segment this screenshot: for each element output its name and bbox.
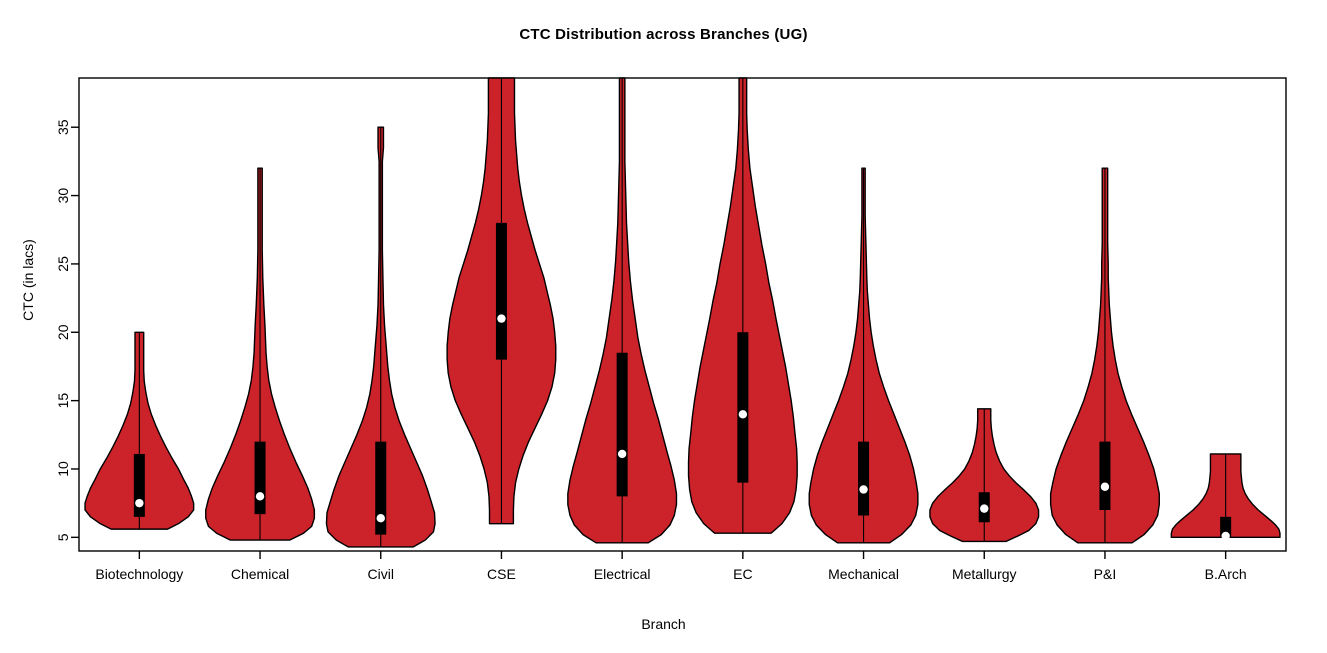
violin-electrical bbox=[568, 78, 677, 543]
violin-biotechnology bbox=[85, 332, 194, 529]
median-marker bbox=[1221, 532, 1229, 540]
x-tick-label: B.Arch bbox=[1205, 566, 1247, 582]
y-tick-label: 10 bbox=[55, 461, 71, 477]
y-axis: 5101520253035 bbox=[55, 119, 79, 541]
x-tick-label: Electrical bbox=[594, 566, 651, 582]
x-tick-label: Civil bbox=[368, 566, 394, 582]
y-tick-label: 25 bbox=[55, 256, 71, 272]
median-marker bbox=[377, 514, 385, 522]
violin-chemical bbox=[206, 168, 315, 540]
median-marker bbox=[497, 314, 505, 322]
y-tick-label: 5 bbox=[55, 533, 71, 541]
violin-b-arch bbox=[1171, 454, 1280, 540]
violin-plot-figure: CTC Distribution across Branches (UG) CT… bbox=[0, 0, 1327, 653]
median-marker bbox=[1101, 483, 1109, 491]
x-tick-label: EC bbox=[733, 566, 752, 582]
x-tick-label: Metallurgy bbox=[952, 566, 1017, 582]
median-marker bbox=[256, 492, 264, 500]
y-tick-label: 20 bbox=[55, 324, 71, 340]
median-marker bbox=[859, 485, 867, 493]
median-marker bbox=[618, 450, 626, 458]
violin-p-i bbox=[1051, 168, 1160, 543]
violin-metallurgy bbox=[930, 409, 1039, 542]
x-tick-label: P&I bbox=[1094, 566, 1117, 582]
violin-ec bbox=[689, 78, 798, 533]
y-tick-label: 15 bbox=[55, 393, 71, 409]
violin-civil bbox=[326, 127, 435, 547]
x-tick-label: Mechanical bbox=[828, 566, 899, 582]
violin-cse bbox=[447, 78, 556, 524]
median-marker bbox=[739, 410, 747, 418]
x-axis: BiotechnologyChemicalCivilCSEElectricalE… bbox=[95, 551, 1246, 582]
x-tick-label: Biotechnology bbox=[95, 566, 183, 582]
plot-area: 5101520253035BiotechnologyChemicalCivilC… bbox=[0, 0, 1327, 653]
median-marker bbox=[135, 499, 143, 507]
median-marker bbox=[980, 504, 988, 512]
y-tick-label: 35 bbox=[55, 119, 71, 135]
y-tick-label: 30 bbox=[55, 188, 71, 204]
x-tick-label: CSE bbox=[487, 566, 516, 582]
violin-mechanical bbox=[809, 168, 918, 543]
x-tick-label: Chemical bbox=[231, 566, 289, 582]
